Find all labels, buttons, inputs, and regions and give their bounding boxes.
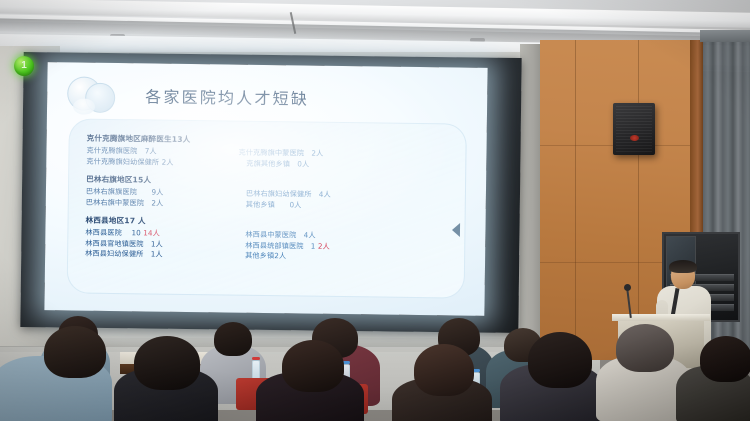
circle-decoration-icon	[73, 98, 95, 114]
hospital-count-left: 克什克腾旗医院 7人	[86, 146, 156, 157]
region-block: 克什克腾旗地区麻醉医生13人 克什克腾旗医院 7人 克什克腾旗中蒙医院 2人 克…	[86, 133, 456, 172]
hospital-count-left: 巴林右旗旗医院 9人	[86, 187, 164, 198]
microphone-icon	[624, 284, 631, 291]
curtain-rail	[700, 30, 750, 42]
conference-room-scene: 各家医院均人才短缺 克什克腾旗地区麻醉医生13人 克什克腾旗医院 7人 克什克腾…	[0, 0, 750, 421]
highlighted-count: 2人	[318, 241, 330, 250]
hospital-count-left: 巴林右旗中蒙医院 2人	[86, 197, 164, 208]
audience-head-foreground	[616, 324, 674, 372]
audience-head-foreground	[414, 344, 474, 396]
hospital-count-right: 巴林右旗妇幼保健所 4人	[246, 189, 331, 200]
speaker-logo	[630, 135, 639, 141]
highlighted-count: 14人	[143, 228, 160, 237]
audience-head-foreground	[528, 332, 592, 388]
hospital-count-right: 其他乡镇2人	[245, 251, 286, 262]
region-block: 巴林右旗地区15人 巴林右旗旗医院 9人 巴林右旗妇幼保健所 4人 巴林右旗中蒙…	[86, 174, 456, 213]
hospital-count-left: 林西县医院 10 14人	[85, 228, 160, 239]
slide-title: 各家医院均人才短缺	[145, 83, 309, 109]
step-marker-badge[interactable]: 1	[14, 56, 34, 76]
audience-head-foreground	[700, 336, 750, 382]
chevron-left-icon	[452, 223, 460, 237]
hospital-count-right: 克旗其他乡镇 0人	[246, 158, 309, 169]
hospital-count-left-text: 林西县医院 10	[85, 228, 143, 238]
hospital-count-right: 林西县中蒙医院 4人	[245, 230, 315, 241]
region-block: 林西县地区17 人 林西县医院 10 14人 林西县中蒙医院 4人 林西县官地镇…	[85, 215, 456, 264]
wood-seam	[575, 40, 576, 360]
hospital-count-right: 林西县统部镇医院 1 2人	[245, 240, 330, 251]
podium-surface	[612, 314, 710, 321]
hospital-count-left: 克什克腾旗妇幼保健所 2人	[86, 156, 173, 167]
wood-seam	[638, 40, 639, 360]
wall-speaker	[613, 103, 655, 155]
speaker-grill	[616, 106, 652, 152]
hospital-count-right: 其他乡镇 0人	[246, 199, 302, 210]
presenter-hair	[669, 260, 697, 273]
hospital-count-left: 林西县官地镇医院 1人	[85, 238, 163, 249]
slide-content-blocks: 克什克腾旗地区麻醉医生13人 克什克腾旗医院 7人 克什克腾旗中蒙医院 2人 克…	[85, 133, 457, 271]
bottle-cap	[252, 357, 260, 360]
hospital-count-right: 克什克腾旗中蒙医院 2人	[238, 148, 323, 159]
hospital-count-left: 林西县妇幼保健所 1人	[85, 249, 163, 260]
projected-slide: 各家医院均人才短缺 克什克腾旗地区麻醉医生13人 克什克腾旗医院 7人 克什克腾…	[44, 62, 487, 316]
audience-head-foreground	[282, 340, 344, 392]
audience-head	[214, 322, 252, 356]
audience-head-foreground	[44, 326, 106, 378]
audience-head-foreground	[134, 336, 200, 390]
hospital-count-right-text: 林西县统部镇医院 1	[245, 240, 318, 250]
